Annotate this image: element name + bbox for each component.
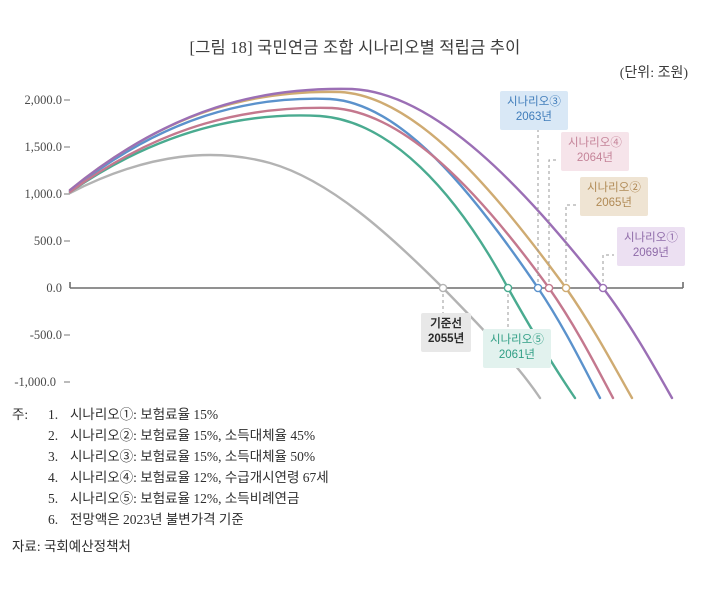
annotation-scenario4-year: 2064년 xyxy=(568,151,622,166)
note-item: 2. 시나리오②: 보험료율 15%, 소득대체율 45% xyxy=(12,425,702,446)
note-indent xyxy=(12,488,48,509)
annotation-scenario3-year: 2063년 xyxy=(507,110,561,125)
note-text: 시나리오③: 보험료율 15%, 소득대체율 50% xyxy=(70,446,702,467)
note-indent xyxy=(12,425,48,446)
annotation-scenario2-label: 시나리오② xyxy=(587,181,641,196)
annotation-scenario5-label: 시나리오⑤ xyxy=(490,333,544,348)
y-tick-marks xyxy=(64,100,70,382)
figure-notes: 주: 1. 시나리오①: 보험료율 15% 2. 시나리오②: 보험료율 15%… xyxy=(12,404,702,530)
annotation-scenario5-year: 2061년 xyxy=(490,348,544,363)
note-indent xyxy=(12,509,48,530)
note-number: 2. xyxy=(48,425,70,446)
chart-plot-area: 2,000.0 1,500.0 1,000.0 500.0 0.0 -500.0… xyxy=(0,80,710,400)
note-text: 시나리오⑤: 보험료율 12%, 소득비례연금 xyxy=(70,488,702,509)
note-item: 6. 전망액은 2023년 불변가격 기준 xyxy=(12,509,702,530)
note-text: 시나리오②: 보험료율 15%, 소득대체율 45% xyxy=(70,425,702,446)
note-number: 4. xyxy=(48,467,70,488)
note-number: 5. xyxy=(48,488,70,509)
note-text: 시나리오①: 보험료율 15% xyxy=(70,404,702,425)
note-item: 3. 시나리오③: 보험료율 15%, 소득대체율 50% xyxy=(12,446,702,467)
annotation-baseline-year: 2055년 xyxy=(428,332,464,347)
annotation-scenario1-year: 2069년 xyxy=(624,246,678,261)
note-text: 전망액은 2023년 불변가격 기준 xyxy=(70,509,702,530)
annotation-baseline: 기준선 2055년 xyxy=(421,313,471,352)
annotation-scenario4-label: 시나리오④ xyxy=(568,136,622,151)
annotation-baseline-label: 기준선 xyxy=(428,317,464,332)
note-indent xyxy=(12,446,48,467)
note-indent xyxy=(12,467,48,488)
note-number: 6. xyxy=(48,509,70,530)
unit-label: (단위: 조원) xyxy=(620,62,688,82)
note-text: 시나리오④: 보험료율 12%, 수급개시연령 67세 xyxy=(70,467,702,488)
chart-svg xyxy=(0,80,710,400)
figure-title: [그림 18] 국민연금 조합 시나리오별 적립금 추이 xyxy=(0,34,710,58)
annotation-scenario3: 시나리오③ 2063년 xyxy=(500,91,568,130)
note-item: 5. 시나리오⑤: 보험료율 12%, 소득비례연금 xyxy=(12,488,702,509)
figure-container: [그림 18] 국민연금 조합 시나리오별 적립금 추이 (단위: 조원) 2,… xyxy=(0,0,710,590)
annotation-scenario1: 시나리오① 2069년 xyxy=(617,227,685,266)
figure-source: 자료: 국회예산정책처 xyxy=(12,535,131,555)
notes-lead-label: 주: xyxy=(12,404,48,425)
annotation-scenario3-label: 시나리오③ xyxy=(507,95,561,110)
annotation-scenario4: 시나리오④ 2064년 xyxy=(561,132,629,171)
annotation-scenario2: 시나리오② 2065년 xyxy=(580,177,648,216)
note-number: 3. xyxy=(48,446,70,467)
note-item: 4. 시나리오④: 보험료율 12%, 수급개시연령 67세 xyxy=(12,467,702,488)
note-item: 주: 1. 시나리오①: 보험료율 15% xyxy=(12,404,702,425)
note-number: 1. xyxy=(48,404,70,425)
annotation-scenario5: 시나리오⑤ 2061년 xyxy=(483,329,551,368)
annotation-scenario1-label: 시나리오① xyxy=(624,231,678,246)
annotation-scenario2-year: 2065년 xyxy=(587,196,641,211)
